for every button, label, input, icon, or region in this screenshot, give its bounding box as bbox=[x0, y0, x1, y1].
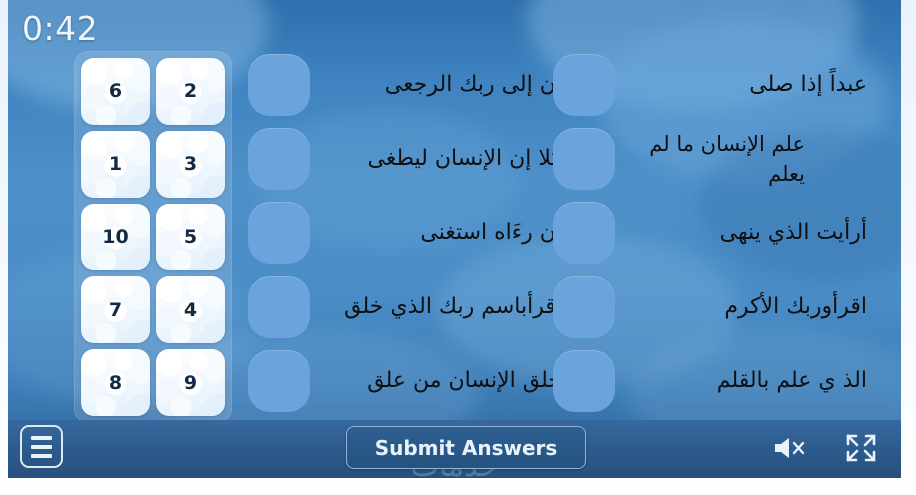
number-tile-label: 10 bbox=[102, 226, 128, 248]
answer-row: إن إلى ربك الرجعى bbox=[248, 48, 568, 122]
answer-row: علم الإنسان ما لم يعلم bbox=[553, 122, 873, 196]
drop-target[interactable] bbox=[248, 202, 310, 264]
speaker-mute-icon[interactable] bbox=[769, 432, 813, 464]
drop-target[interactable] bbox=[553, 276, 615, 338]
bottom-toolbar: خدمات Submit Answers bbox=[8, 420, 901, 478]
submit-answers-button[interactable]: Submit Answers bbox=[346, 426, 586, 469]
menu-bar-1 bbox=[31, 436, 52, 440]
drop-target[interactable] bbox=[553, 350, 615, 412]
number-tile[interactable]: 3 bbox=[156, 131, 225, 198]
number-tile-label: 6 bbox=[109, 80, 122, 102]
countdown-timer: 0:42 bbox=[22, 9, 98, 48]
drop-target[interactable] bbox=[248, 350, 310, 412]
answer-row: اقرأباسم ربك الذي خلق bbox=[248, 270, 568, 344]
answer-row: اقرأوربك الأكرم bbox=[553, 270, 873, 344]
number-tile-grid: 6 2 1 3 10 5 7 4 8 9 bbox=[74, 51, 232, 423]
number-tile-label: 5 bbox=[184, 226, 197, 248]
number-tile[interactable]: 10 bbox=[81, 204, 150, 271]
number-tile-label: 4 bbox=[184, 299, 197, 321]
answer-text: اقرأوربك الأكرم bbox=[615, 291, 873, 322]
fullscreen-expand-icon[interactable] bbox=[841, 430, 881, 466]
answer-row: الذ ي علم بالقلم bbox=[553, 344, 873, 418]
app-root: 0:42 6 2 1 3 10 5 7 4 8 9 إن إلى ربك الر… bbox=[0, 0, 916, 495]
menu-bar-2 bbox=[31, 445, 52, 449]
number-tile-label: 2 bbox=[184, 80, 197, 102]
speaker-mute-glyph bbox=[771, 434, 811, 462]
number-tile-label: 9 bbox=[184, 372, 197, 394]
number-tile-panel: 6 2 1 3 10 5 7 4 8 9 bbox=[74, 51, 232, 423]
number-tile[interactable]: 2 bbox=[156, 58, 225, 125]
drop-target[interactable] bbox=[553, 54, 615, 116]
hamburger-menu-icon[interactable] bbox=[20, 425, 63, 468]
answer-row: عبداً إذا صلى bbox=[553, 48, 873, 122]
menu-bar-3 bbox=[31, 454, 52, 458]
fullscreen-glyph bbox=[844, 432, 878, 464]
drop-target[interactable] bbox=[248, 128, 310, 190]
game-canvas: 0:42 6 2 1 3 10 5 7 4 8 9 إن إلى ربك الر… bbox=[8, 0, 901, 478]
number-tile[interactable]: 4 bbox=[156, 276, 225, 343]
answer-text: أرأيت الذي ينهى bbox=[615, 217, 873, 248]
answer-row: خلق الإنسان من علق bbox=[248, 344, 568, 418]
answer-text: الذ ي علم بالقلم bbox=[615, 365, 873, 396]
number-tile[interactable]: 6 bbox=[81, 58, 150, 125]
answer-text: كلا إن الإنسان ليطغى bbox=[310, 143, 568, 174]
answer-text: خلق الإنسان من علق bbox=[310, 365, 568, 396]
answer-text: علم الإنسان ما لم يعلم bbox=[615, 129, 811, 190]
number-tile[interactable]: 1 bbox=[81, 131, 150, 198]
number-tile[interactable]: 9 bbox=[156, 349, 225, 416]
drop-target[interactable] bbox=[248, 54, 310, 116]
answer-text: اقرأباسم ربك الذي خلق bbox=[310, 291, 568, 322]
drop-target[interactable] bbox=[248, 276, 310, 338]
drop-target[interactable] bbox=[553, 202, 615, 264]
answer-row: كلا إن الإنسان ليطغى bbox=[248, 122, 568, 196]
number-tile-label: 8 bbox=[109, 372, 122, 394]
answer-text: إن إلى ربك الرجعى bbox=[310, 69, 568, 100]
answer-column-left: إن إلى ربك الرجعى كلا إن الإنسان ليطغى أ… bbox=[248, 48, 568, 418]
answer-row: أن رءَاه استغنى bbox=[248, 196, 568, 270]
answer-text: عبداً إذا صلى bbox=[615, 69, 873, 100]
number-tile[interactable]: 5 bbox=[156, 204, 225, 271]
number-tile[interactable]: 7 bbox=[81, 276, 150, 343]
answer-column-right: عبداً إذا صلى علم الإنسان ما لم يعلم أرأ… bbox=[553, 48, 873, 418]
answer-text: أن رءَاه استغنى bbox=[310, 217, 568, 248]
number-tile-label: 7 bbox=[109, 299, 122, 321]
answer-row: أرأيت الذي ينهى bbox=[553, 196, 873, 270]
number-tile-label: 3 bbox=[184, 153, 197, 175]
number-tile[interactable]: 8 bbox=[81, 349, 150, 416]
number-tile-label: 1 bbox=[109, 153, 122, 175]
drop-target[interactable] bbox=[553, 128, 615, 190]
